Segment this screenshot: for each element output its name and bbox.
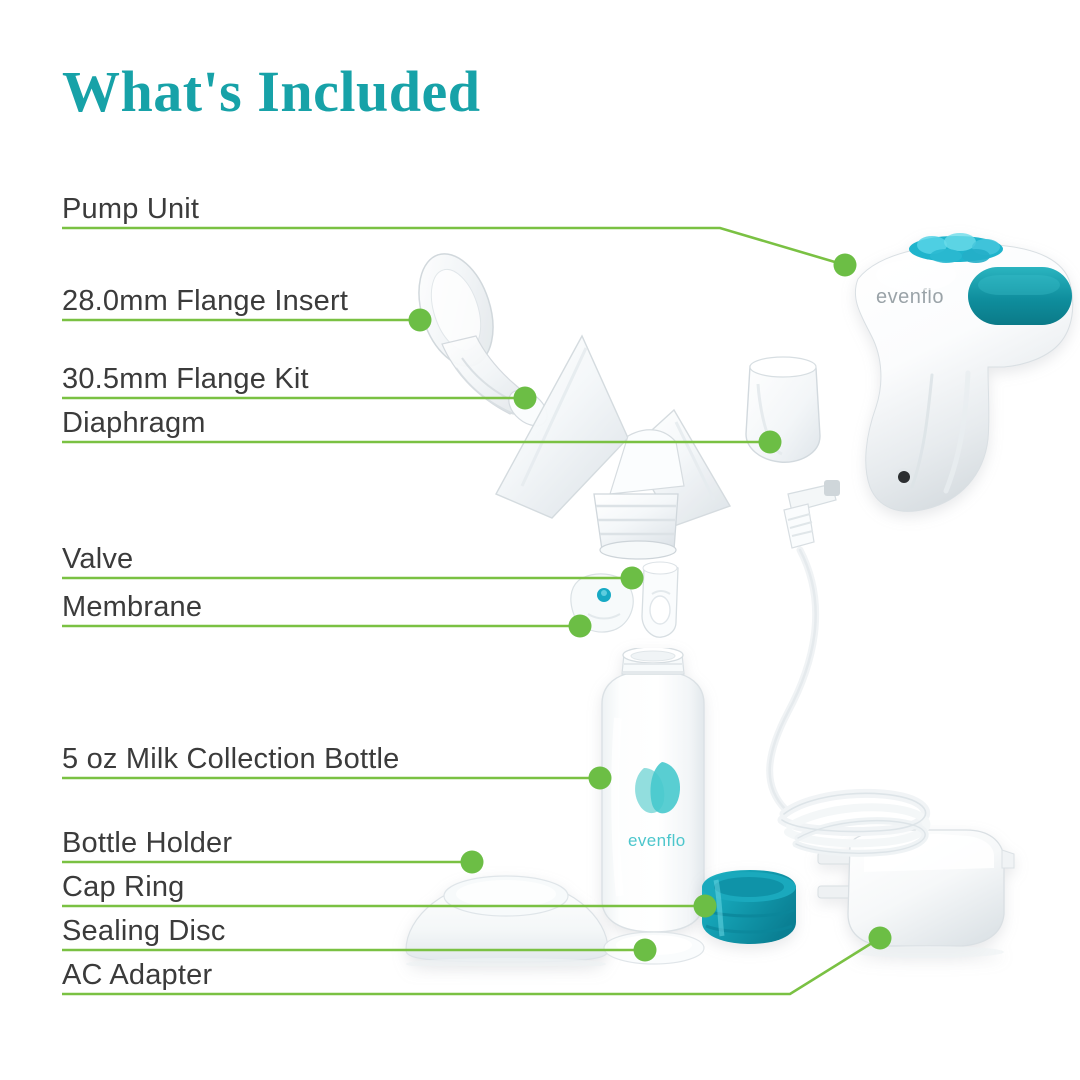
cord-barrel-plug: [784, 480, 840, 548]
valve: [632, 560, 688, 642]
page-title: What's Included: [62, 58, 480, 125]
bottle-holder: [398, 866, 616, 966]
callout-label-diaphragm: Diaphragm: [62, 407, 206, 440]
power-cord: [740, 470, 990, 870]
cap-ring: [694, 866, 804, 952]
callout-label-cap-ring: Cap Ring: [62, 871, 185, 904]
callout-label-28-0mm-flange-insert: 28.0mm Flange Insert: [62, 285, 348, 318]
callout-label-sealing-disc: Sealing Disc: [62, 915, 226, 948]
callout-label-5-oz-milk-collection-bottle: 5 oz Milk Collection Bottle: [62, 743, 399, 776]
whats-included-infographic: What's Included: [0, 0, 1080, 1080]
callout-label-30-5mm-flange-kit: 30.5mm Flange Kit: [62, 363, 309, 396]
callout-label-bottle-holder: Bottle Holder: [62, 827, 232, 860]
bottle-brand-wordmark: evenflo: [628, 831, 686, 850]
callout-label-membrane: Membrane: [62, 591, 202, 624]
diaphragm: [728, 350, 838, 480]
callout-label-ac-adapter: AC Adapter: [62, 959, 212, 992]
callout-label-pump-unit: Pump Unit: [62, 193, 199, 226]
membrane: [566, 568, 638, 638]
callout-label-valve: Valve: [62, 543, 133, 576]
cord-coil: [782, 793, 926, 853]
sealing-disc: [600, 924, 708, 968]
